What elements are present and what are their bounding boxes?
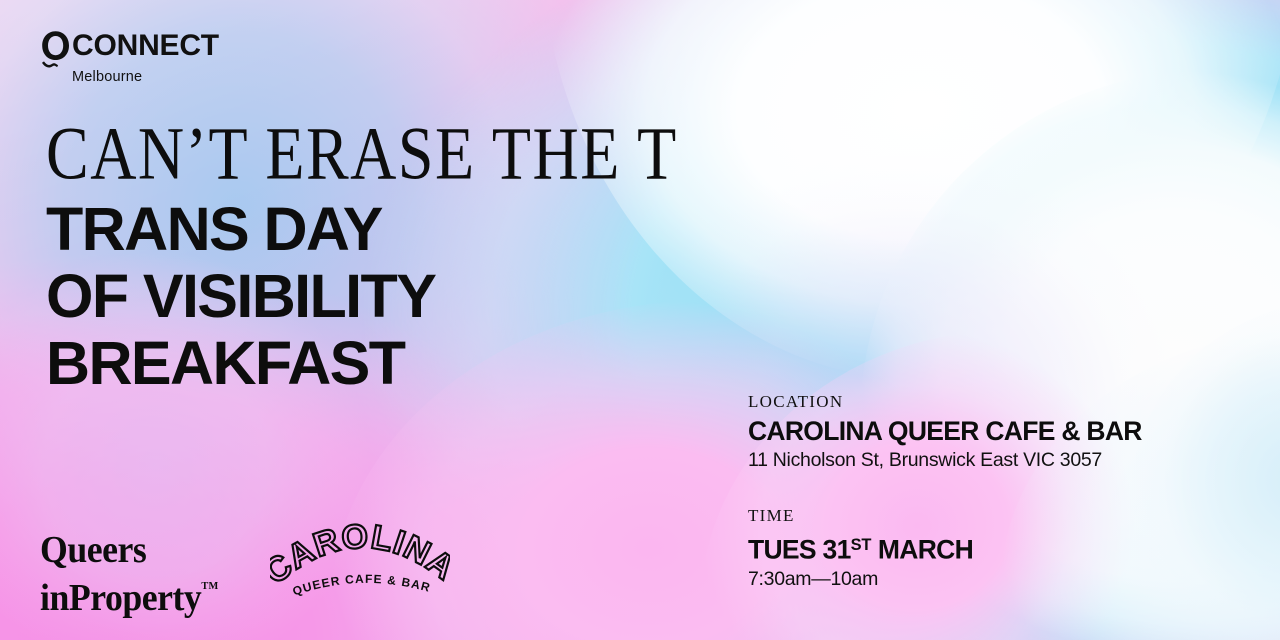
location-venue: CAROLINA QUEER CAFE & BAR (748, 415, 1168, 447)
svg-text:QUEER CAFE & BAR: QUEER CAFE & BAR (291, 572, 433, 599)
headline-block: CAN’T ERASE THE T TRANS DAY OF VISIBILIT… (46, 116, 806, 397)
headline-line-breakfast: BREAKFAST (46, 330, 806, 397)
poster-content: CONNECT Melbourne CAN’T ERASE THE T TRAN… (0, 0, 1280, 640)
partner-logos: Queers inPropertyTM CAROLINA QUEER CAFE … (40, 520, 450, 616)
qip-line-1: Queers (40, 532, 219, 568)
q-swash-icon (40, 30, 72, 70)
qconnect-logo: CONNECT Melbourne (40, 30, 250, 85)
headline-line-trans-day: TRANS DAY (46, 196, 806, 263)
queers-in-property-logo: Queers inPropertyTM (40, 532, 219, 616)
location-block: LOCATION CAROLINA QUEER CAFE & BAR 11 Ni… (748, 392, 1168, 472)
event-poster: CONNECT Melbourne CAN’T ERASE THE T TRAN… (0, 0, 1280, 640)
qconnect-city-label: Melbourne (72, 69, 250, 85)
time-date-prefix: TUES 31 (748, 535, 851, 565)
qip-line-2: inPropertyTM (40, 568, 219, 616)
qip-line-2-text: inProperty (40, 577, 201, 619)
trademark-icon: TM (201, 580, 218, 592)
qconnect-wordmark: CONNECT (72, 30, 219, 62)
time-label: TIME (748, 506, 1168, 526)
carolina-logo: CAROLINA QUEER CAFE & BAR (270, 520, 450, 616)
time-hours: 7:30am—10am (748, 567, 1168, 591)
location-label: LOCATION (748, 392, 1168, 412)
event-details: LOCATION CAROLINA QUEER CAFE & BAR 11 Ni… (748, 392, 1168, 591)
time-block: TIME TUES 31ST MARCH 7:30am—10am (748, 506, 1168, 591)
headline-serif-line: CAN’T ERASE THE T (46, 116, 806, 192)
time-date-suffix: MARCH (871, 535, 973, 565)
headline-line-of-visibility: OF VISIBILITY (46, 263, 806, 330)
time-date-ordinal: ST (851, 536, 872, 554)
time-date: TUES 31ST MARCH (748, 529, 1168, 566)
headline-bold-block: TRANS DAY OF VISIBILITY BREAKFAST (46, 196, 806, 397)
qconnect-logo-row: CONNECT (40, 30, 250, 70)
location-address: 11 Nicholson St, Brunswick East VIC 3057 (748, 448, 1168, 472)
